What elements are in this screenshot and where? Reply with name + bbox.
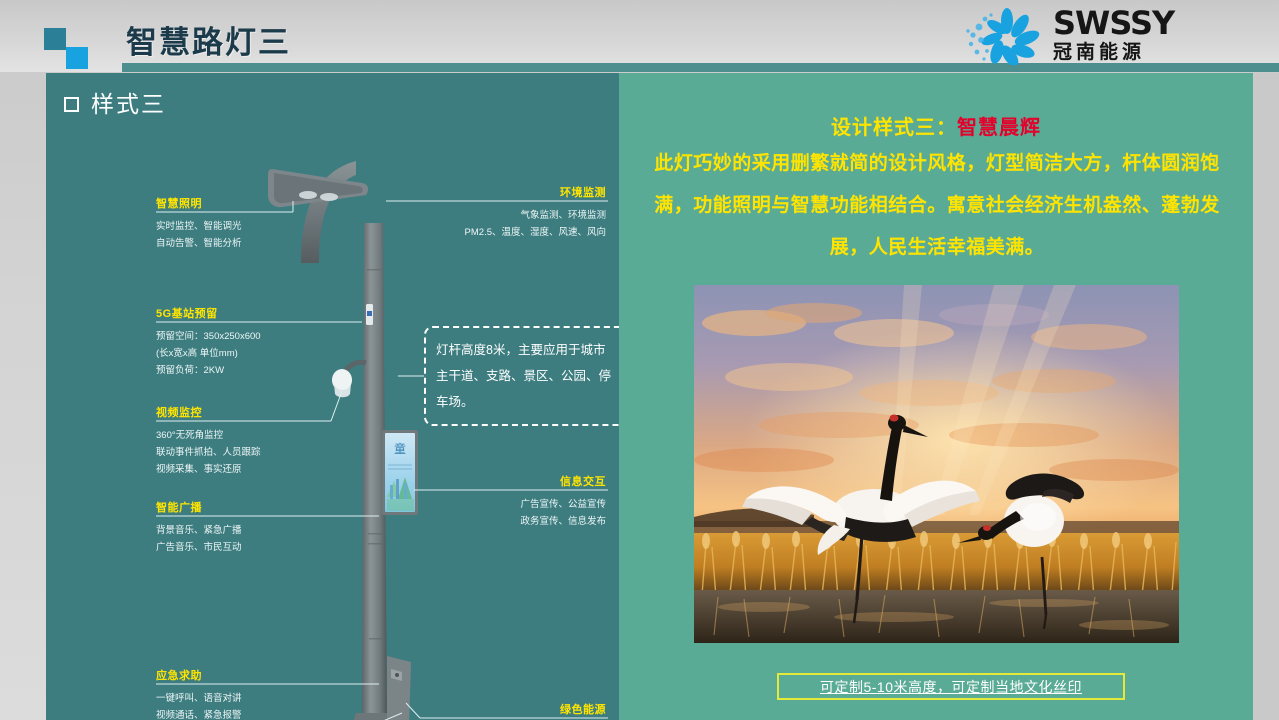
logo-text-block: SWSSY 冠南能源	[1053, 7, 1174, 65]
callout-info-interaction: 信息交互 广告宣传、公益宣传 政务宣传、信息发布	[376, 473, 606, 530]
square-bullet-icon	[64, 97, 79, 112]
note-text: 灯杆高度8米，主要应用于城市主干道、支路、景区、公园、停车场。	[436, 337, 615, 415]
callout-environment-monitor: 环境监测 气象监测、环境监测 PM2.5、温度、湿度、风速、风向	[366, 184, 606, 241]
callout-title: 环境监测	[366, 184, 606, 200]
callout-line: 联动事件抓拍、人员跟踪	[156, 444, 261, 461]
callout-line: 预留空间：350x250x600	[156, 328, 261, 345]
page-right-margin	[1253, 73, 1279, 720]
company-logo: SWSSY 冠南能源	[961, 5, 1261, 67]
logo-brand-latin: SWSSY	[1053, 7, 1174, 39]
callout-line: 广告宣传、公益宣传	[376, 496, 606, 513]
callout-line: 自动告警、智能分析	[156, 235, 242, 252]
callout-line: 政务宣传、信息发布	[376, 513, 606, 530]
callout-title: 智能广播	[156, 499, 242, 515]
header-decor-squares	[44, 28, 100, 68]
design-title-accent: 智慧晨辉	[957, 117, 1041, 139]
logo-brand-cn: 冠南能源	[1053, 41, 1174, 65]
callout-title: 视频监控	[156, 404, 261, 420]
callout-title: 信息交互	[376, 473, 606, 489]
callout-line: (长x宽x高 单位mm)	[156, 345, 261, 362]
callout-5g-base-station: 5G基站预留 预留空间：350x250x600 (长x宽x高 单位mm) 预留负…	[156, 305, 261, 379]
callout-line: 气象监测、环境监测	[366, 207, 606, 224]
crane-sunset-photo	[694, 285, 1179, 643]
page-header: 智慧路灯三	[0, 0, 1279, 72]
callout-title: 智慧照明	[156, 195, 242, 211]
style-heading-label: 样式三	[91, 85, 166, 119]
callout-smart-lighting: 智慧照明 实时监控、智能调光 自动告警、智能分析	[156, 195, 242, 252]
callout-video-surveillance: 视频监控 360°无死角监控 联动事件抓拍、人员跟踪 视频采集、事实还原	[156, 404, 261, 478]
customization-caption-text: 可定制5-10米高度，可定制当地文化丝印	[820, 677, 1082, 697]
svg-text:童: 童	[394, 441, 406, 456]
callout-line: 广告音乐、市民互动	[156, 539, 242, 556]
page-title: 智慧路灯三	[126, 17, 291, 62]
callout-line: 一键呼叫、语音对讲	[156, 690, 242, 707]
callout-line: 实时监控、智能调光	[156, 218, 242, 235]
callout-title: 应急求助	[156, 667, 242, 683]
height-application-note: 灯杆高度8米，主要应用于城市主干道、支路、景区、公园、停车场。	[424, 326, 619, 426]
decor-square-dark	[44, 28, 66, 50]
right-content-panel: 设计样式三：智慧晨辉 此灯巧妙的采用删繁就简的设计风格，灯型简洁大方，杆体圆润饱…	[619, 73, 1253, 720]
callout-line: 预留负荷：2KW	[156, 362, 261, 379]
style-heading: 样式三	[64, 85, 166, 119]
callout-line: PM2.5、温度、湿度、风速、风向	[366, 224, 606, 241]
left-content-panel: 童	[46, 73, 619, 720]
design-title-prefix: 设计样式三：	[831, 117, 957, 139]
callout-title: 5G基站预留	[156, 305, 261, 321]
callout-line: 360°无死角监控	[156, 427, 261, 444]
design-description: 此灯巧妙的采用删繁就简的设计风格，灯型简洁大方，杆体圆润饱满，功能照明与智慧功能…	[641, 143, 1233, 269]
decor-square-blue	[66, 47, 88, 69]
customization-caption-box: 可定制5-10米高度，可定制当地文化丝印	[777, 673, 1125, 700]
callout-green-energy: 绿色能源 汽车充电 手机充电	[376, 701, 606, 720]
callout-smart-broadcast: 智能广播 背景音乐、紧急广播 广告音乐、市民互动	[156, 499, 242, 556]
callout-line: 视频通话、紧急报警	[156, 707, 242, 720]
design-style-title: 设计样式三：智慧晨辉	[619, 111, 1253, 140]
callout-title: 绿色能源	[376, 701, 606, 717]
callout-line: 视频采集、事实还原	[156, 461, 261, 478]
callout-line: 背景音乐、紧急广播	[156, 522, 242, 539]
blue-petal-flower-logo-icon	[961, 7, 1047, 65]
callout-emergency-help: 应急求助 一键呼叫、语音对讲 视频通话、紧急报警	[156, 667, 242, 720]
